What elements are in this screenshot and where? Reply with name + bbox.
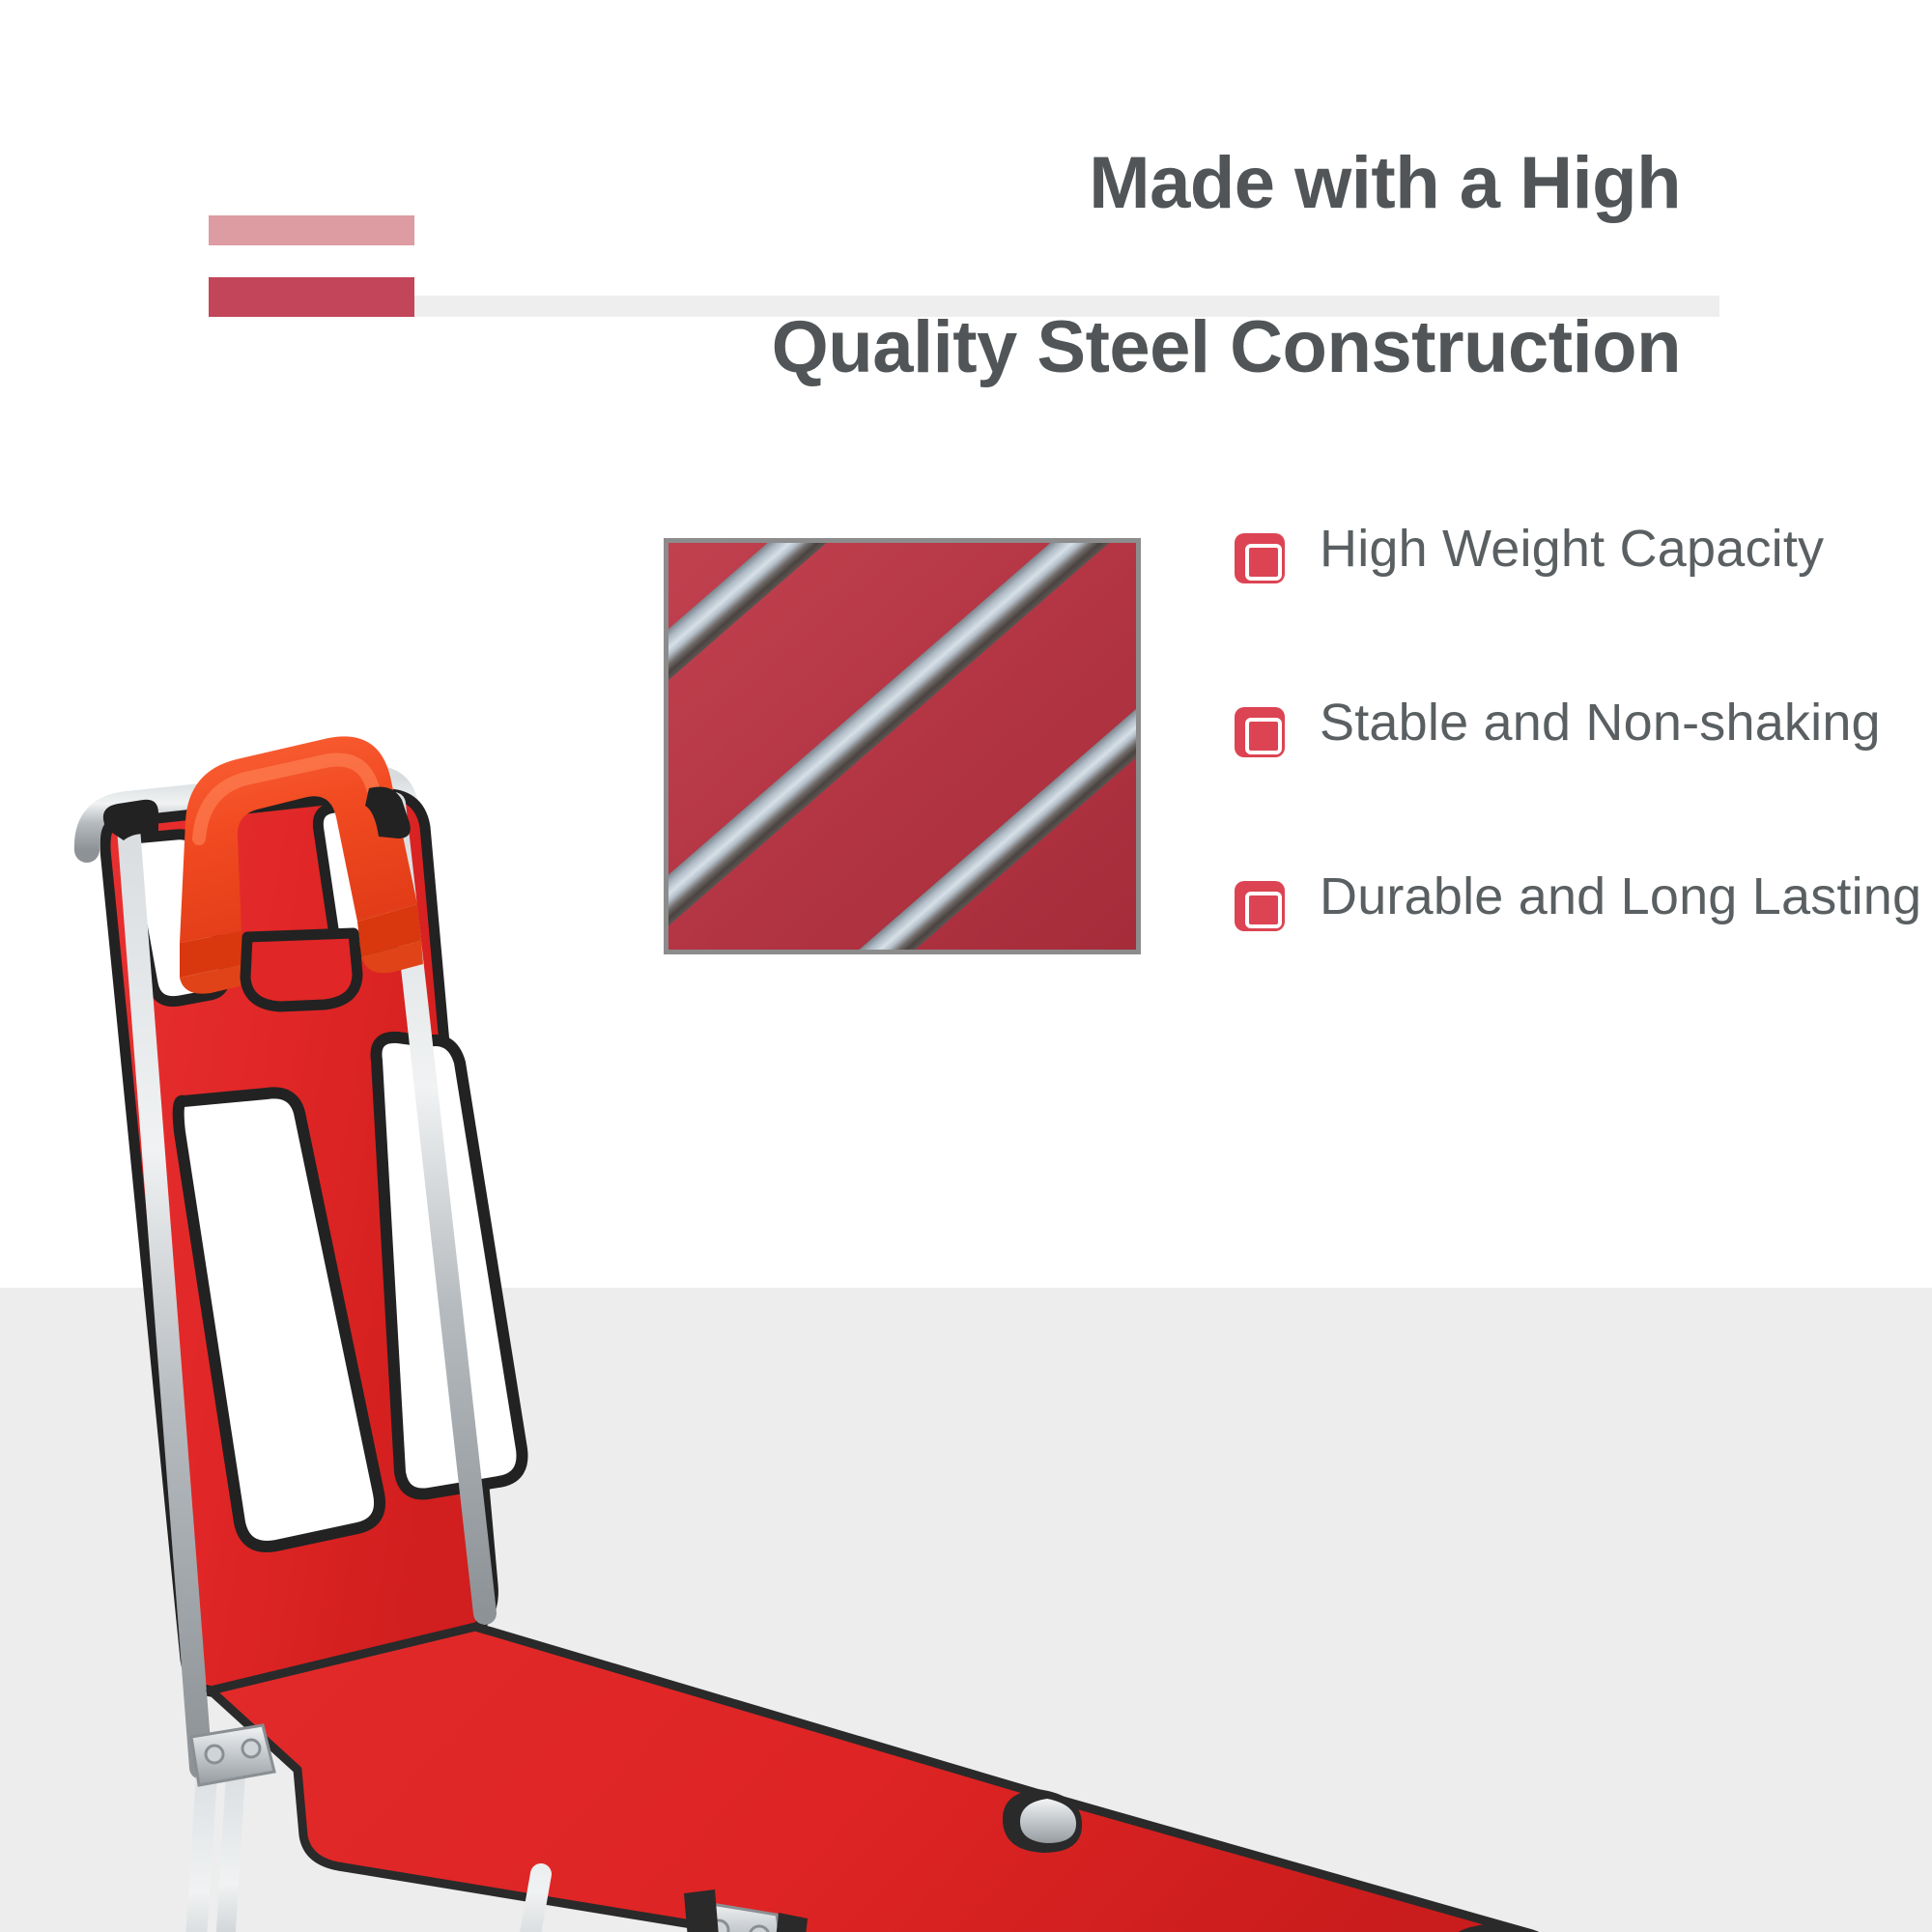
feature-item-label: High Weight Capacity xyxy=(1320,519,1824,579)
rounded-square-bullet-icon xyxy=(1235,533,1285,583)
decorative-rule xyxy=(414,296,1719,317)
folding-chaise-lounge-chair-photo xyxy=(39,715,1758,1932)
page-title-line-2: Quality Steel Construction xyxy=(0,306,1681,388)
decorative-bar-light xyxy=(209,215,414,245)
chaise-lounge-illustration xyxy=(39,715,1758,1932)
feature-item: High Weight Capacity xyxy=(1235,529,1911,703)
decorative-bar-dark xyxy=(209,277,414,317)
page-title: Made with a High Quality Steel Construct… xyxy=(0,60,1681,471)
page-title-line-1: Made with a High xyxy=(0,142,1681,224)
header: Made with a High Quality Steel Construct… xyxy=(0,0,1932,328)
product-feature-banner: Made with a High Quality Steel Construct… xyxy=(0,0,1932,1932)
